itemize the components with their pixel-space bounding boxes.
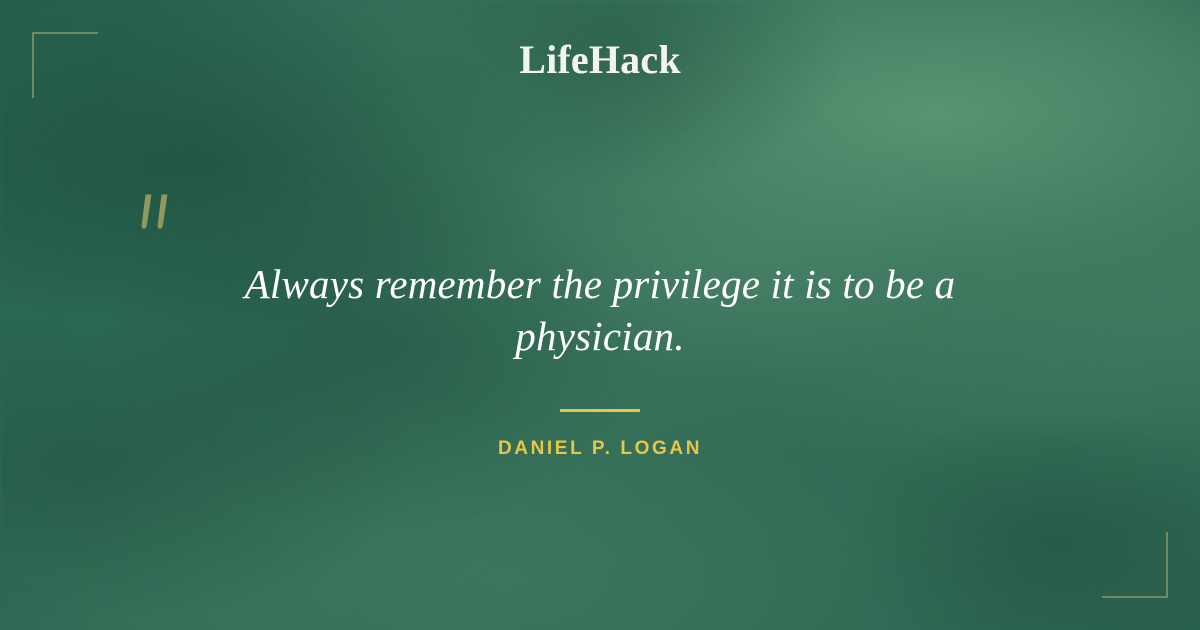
- quote-text: Always remember the privilege it is to b…: [100, 258, 1100, 363]
- brand-logo: LifeHack: [0, 40, 1200, 80]
- quote-block: Always remember the privilege it is to b…: [0, 258, 1200, 460]
- quotation-mark-icon: [132, 192, 178, 244]
- corner-bracket-bottom-right-icon: [1102, 532, 1168, 598]
- quote-card: LifeHack Always remember the privilege i…: [0, 0, 1200, 630]
- quote-author: DANIEL P. LOGAN: [0, 438, 1200, 460]
- quote-divider: [560, 409, 640, 412]
